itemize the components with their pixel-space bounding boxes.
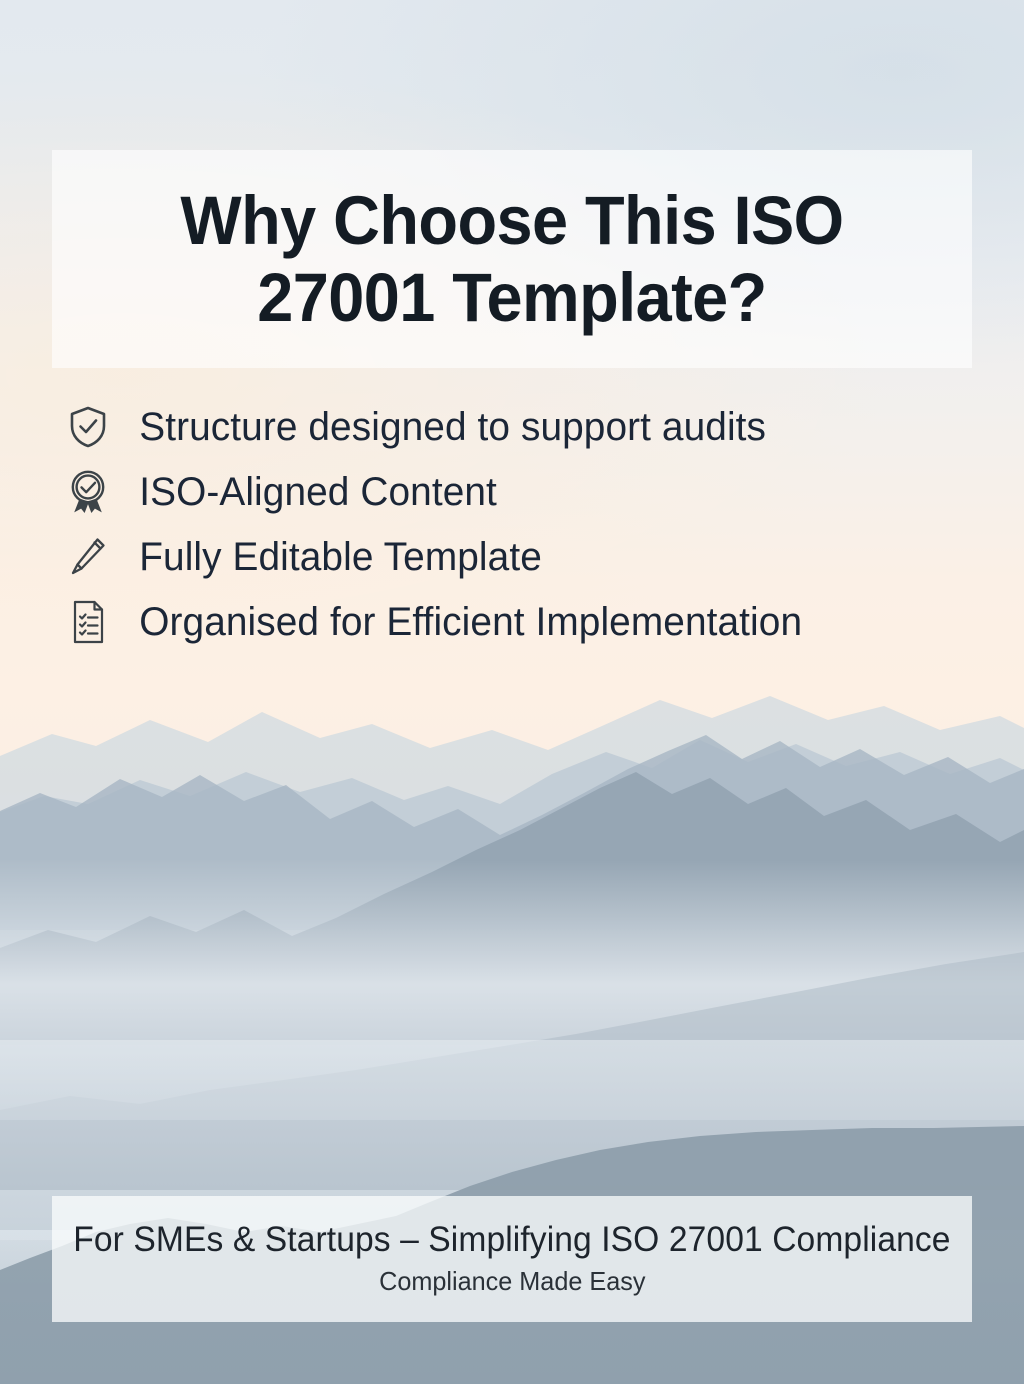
feature-label: Organised for Efficient Implementation [114, 602, 802, 642]
pencil-icon [62, 531, 114, 583]
list-item: ISO-Aligned Content [62, 459, 962, 524]
footer-headline: For SMEs & Startups – Simplifying ISO 27… [73, 1219, 950, 1261]
title-panel: Why Choose This ISO 27001 Template? [52, 150, 972, 368]
page-title: Why Choose This ISO 27001 Template? [80, 182, 945, 337]
feature-label: Structure designed to support audits [114, 407, 766, 447]
poster-canvas: Why Choose This ISO 27001 Template? Stru… [0, 0, 1024, 1384]
footer-tagline: Compliance Made Easy [379, 1265, 645, 1299]
feature-label: ISO-Aligned Content [114, 472, 497, 512]
award-badge-icon [62, 466, 114, 518]
checklist-document-icon [62, 596, 114, 648]
feature-label: Fully Editable Template [114, 537, 542, 577]
list-item: Structure designed to support audits [62, 394, 962, 459]
list-item: Fully Editable Template [62, 524, 962, 589]
feature-list: Structure designed to support audits ISO… [62, 394, 962, 654]
shield-check-icon [62, 401, 114, 453]
footer-panel: For SMEs & Startups – Simplifying ISO 27… [52, 1196, 972, 1322]
list-item: Organised for Efficient Implementation [62, 589, 962, 654]
